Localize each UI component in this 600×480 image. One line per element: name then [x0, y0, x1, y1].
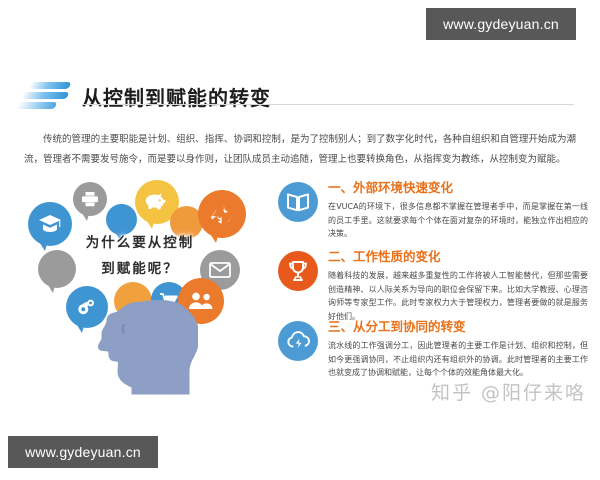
- watermark-zhihu: 知乎 @阳仔来咯: [431, 378, 586, 405]
- section-3-title: 三、从分工到协同的转变: [328, 319, 588, 335]
- section-1-title: 一、外部环境快速变化: [328, 180, 588, 196]
- dollar-sign-icon: $: [182, 214, 191, 231]
- section-2-title: 二、工作性质的变化: [328, 249, 588, 265]
- page-header: 从控制到赋能的转变: [18, 76, 578, 116]
- head-silhouette-icon: [94, 300, 198, 396]
- recycle-icon: [208, 201, 236, 227]
- section-work-nature: 二、工作性质的变化 随着科技的发展，越来越多重复性的工作将被人工智能替代，但那些…: [278, 249, 588, 323]
- piggy-bank-icon: [144, 192, 170, 212]
- header-divider: [82, 104, 574, 105]
- open-book-icon: [286, 191, 310, 213]
- section-division-to-collaboration: 三、从分工到协同的转变 流水线的工作强调分工，因此管理者的主要工作是计划、组织和…: [278, 319, 588, 380]
- header-bars-icon: [18, 79, 70, 113]
- section-3-icon-circle: [278, 321, 318, 361]
- section-2-icon-circle: [278, 251, 318, 291]
- trophy-icon: [286, 259, 310, 283]
- watermark-bottom: www.gydeyuan.cn: [8, 436, 158, 468]
- question-line-1: 为什么要从控制: [42, 230, 238, 256]
- intro-paragraph: 传统的管理的主要职能是计划、组织、指挥、协调和控制，是为了控制别人；到了数字化时…: [24, 130, 576, 170]
- section-2-title-text: 工作性质的变化: [353, 249, 441, 264]
- section-1-text: 在VUCA的环境下，很多信息都不掌握在管理者手中，而是掌握在第一线的员工手里。这…: [328, 200, 588, 241]
- section-external-environment: 一、外部环境快速变化 在VUCA的环境下，很多信息都不掌握在管理者手中，而是掌握…: [278, 180, 588, 241]
- section-1-title-text: 外部环境快速变化: [353, 180, 453, 195]
- slide-canvas: www.gydeyuan.cn 从控制到赋能的转变 传统的管理的主要职能是计划、…: [0, 0, 600, 480]
- page-title: 从控制到赋能的转变: [82, 82, 271, 111]
- illustration-question: 为什么要从控制 到赋能呢？: [42, 230, 238, 282]
- at-sign-icon: @: [114, 212, 129, 227]
- section-1-number: 一、: [328, 180, 353, 195]
- thought-bubbles-illustration: @ $ ♫: [18, 178, 280, 396]
- section-3-text: 流水线的工作强调分工，因此管理者的主要工作是计划、组织和控制，但如今更强调协同，…: [328, 339, 588, 380]
- section-2-text: 随着科技的发展，越来越多重复性的工作将被人工智能替代，但那些需要创造精神、以人际…: [328, 269, 588, 323]
- section-1-body: 一、外部环境快速变化 在VUCA的环境下，很多信息都不掌握在管理者手中，而是掌握…: [328, 180, 588, 241]
- watermark-top: www.gydeyuan.cn: [426, 8, 576, 40]
- section-2-number: 二、: [328, 249, 353, 264]
- cloud-lightning-icon: [286, 330, 311, 352]
- printer-icon: [81, 191, 99, 207]
- question-line-2: 到赋能呢？: [42, 256, 238, 282]
- bubble-printer: [73, 182, 107, 216]
- section-3-title-text: 从分工到协同的转变: [353, 319, 466, 334]
- section-3-number: 三、: [328, 319, 353, 334]
- section-3-body: 三、从分工到协同的转变 流水线的工作强调分工，因此管理者的主要工作是计划、组织和…: [328, 319, 588, 380]
- section-2-body: 二、工作性质的变化 随着科技的发展，越来越多重复性的工作将被人工智能替代，但那些…: [328, 249, 588, 323]
- section-1-icon-circle: [278, 182, 318, 222]
